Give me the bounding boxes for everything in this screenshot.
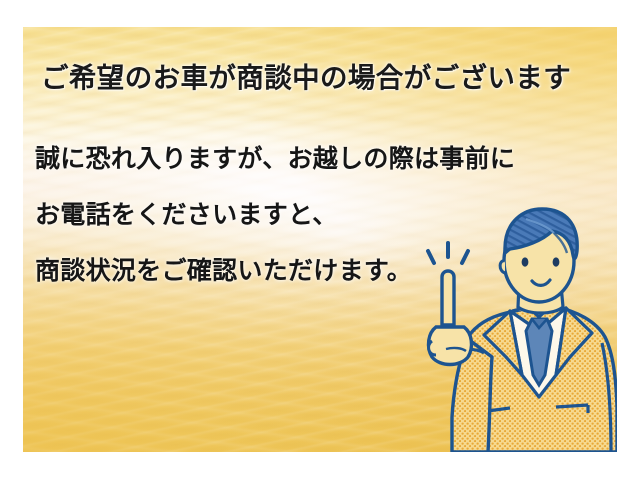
body-text-block: 誠に恐れ入りますが、お越しの際は事前に お電話をくださいますと、 商談状況をご確…: [35, 131, 595, 299]
notice-banner: ご希望のお車が商談中の場合がございます 誠に恐れ入りますが、お越しの際は事前に …: [0, 0, 640, 480]
gold-gradient-panel: ご希望のお車が商談中の場合がございます 誠に恐れ入りますが、お越しの際は事前に …: [23, 27, 617, 452]
body-line-3: 商談状況をご確認いただけます。: [35, 243, 595, 299]
page-title: ご希望のお車が商談中の場合がございます: [41, 55, 597, 95]
body-line-2: お電話をくださいますと、: [35, 187, 595, 243]
body-line-1: 誠に恐れ入りますが、お越しの際は事前に: [35, 131, 595, 187]
